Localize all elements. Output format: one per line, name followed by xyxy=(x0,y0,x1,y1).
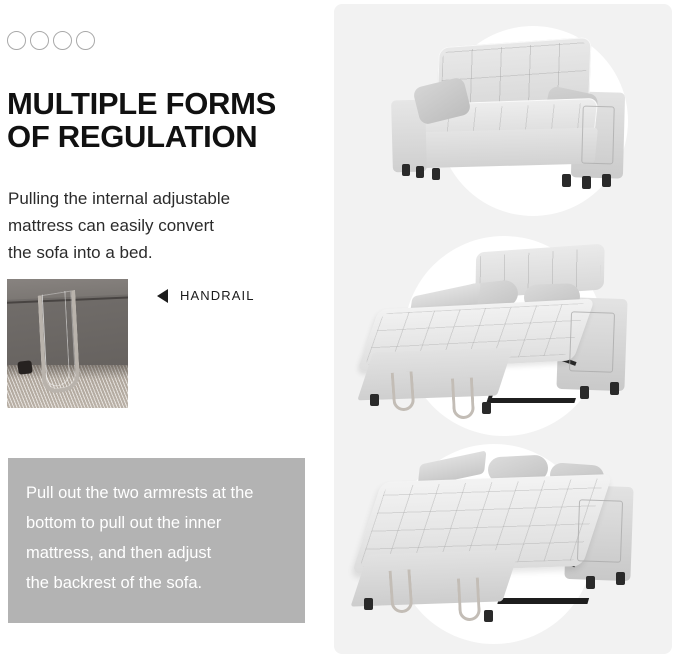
left-triangle-icon xyxy=(157,289,168,303)
decorative-dots-row xyxy=(7,31,95,50)
handrail-detail-photo xyxy=(7,279,128,408)
sofa-illustration-upright xyxy=(386,38,636,198)
sofa-half-extended-photo xyxy=(334,222,672,438)
pull-strap xyxy=(389,569,414,613)
sofa-leg xyxy=(370,394,379,406)
sofa-leg xyxy=(582,176,591,189)
sofa-leg xyxy=(482,402,491,414)
instruction-note-text: Pull out the two armrests at the bottom … xyxy=(8,478,271,604)
instruction-note-box: Pull out the two armrests at the bottom … xyxy=(8,458,305,623)
left-content-column: MULTIPLE FORMS OF REGULATION Pulling the… xyxy=(0,0,330,658)
sofa-upright-photo xyxy=(334,4,672,222)
sofa-leg xyxy=(602,174,611,187)
sofa-leg xyxy=(432,168,440,180)
photo-handrail-strap-highlight xyxy=(42,291,71,388)
sofa-illustration-flat-bed xyxy=(354,450,654,630)
pull-strap xyxy=(457,577,481,621)
sofa-leg xyxy=(484,610,493,622)
decorative-circle-4 xyxy=(76,31,95,50)
sofa-right-arm-panel xyxy=(569,311,615,372)
sofa-leg xyxy=(580,386,589,399)
sofa-leg xyxy=(616,572,625,585)
sofa-illustration-half-extended xyxy=(358,246,654,416)
pull-strap xyxy=(451,377,475,419)
sofa-leg xyxy=(562,174,571,187)
sofa-right-arm-panel xyxy=(577,499,623,562)
decorative-circle-1 xyxy=(7,31,26,50)
product-photo-panel xyxy=(334,4,672,654)
sofa-base xyxy=(408,128,598,169)
sofa-leg xyxy=(586,576,595,589)
sofa-leg xyxy=(416,166,424,178)
handrail-label: HANDRAIL xyxy=(180,288,255,303)
photo-caster-wheel xyxy=(17,360,32,374)
decorative-circle-2 xyxy=(30,31,49,50)
sofa-leg xyxy=(610,382,619,395)
intro-paragraph: Pulling the internal adjustable mattress… xyxy=(8,185,298,266)
page-title: MULTIPLE FORMS OF REGULATION xyxy=(7,87,317,153)
sofa-pullout-drawer xyxy=(351,549,520,606)
decorative-circle-3 xyxy=(53,31,72,50)
sofa-right-arm-panel xyxy=(581,106,615,165)
handrail-callout: HANDRAIL xyxy=(157,288,255,303)
sofa-flat-bed-photo xyxy=(334,438,672,654)
sofa-pullout-drawer xyxy=(357,348,512,401)
sofa-leg xyxy=(364,598,373,610)
sofa-leg xyxy=(402,164,410,176)
pull-strap xyxy=(391,371,416,411)
